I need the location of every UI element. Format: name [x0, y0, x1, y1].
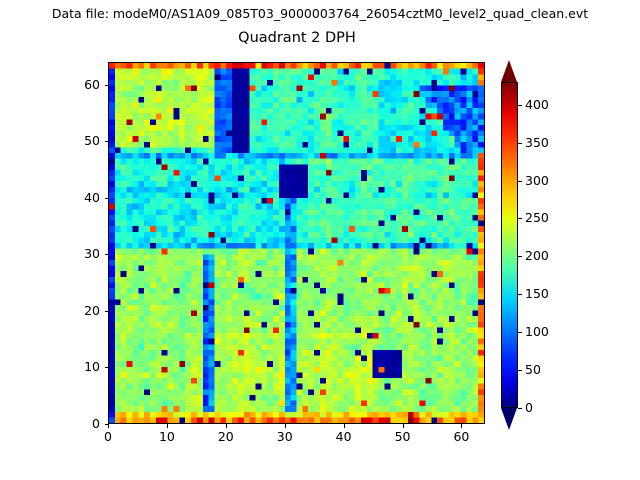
colorbar-tick-mark: [518, 294, 522, 295]
colorbar-tick-mark: [518, 408, 522, 409]
x-tick-mark: [403, 424, 404, 428]
y-tick-mark: [105, 311, 109, 312]
colorbar-tick-label: 100: [525, 324, 549, 339]
colorbar-tick-mark: [518, 105, 522, 106]
data-file-label: Data file: modeM0/AS1A09_085T03_90000037…: [0, 6, 640, 21]
y-tick-label: 20: [66, 303, 100, 318]
x-tick-label: 10: [147, 429, 187, 444]
colorbar-tick-label: 200: [525, 248, 549, 263]
y-tick-label: 50: [66, 133, 100, 148]
y-tick-label: 60: [66, 77, 100, 92]
y-tick-mark: [105, 367, 109, 368]
colorbar-tick-mark: [518, 332, 522, 333]
colorbar-over-arrow: [501, 60, 517, 82]
colorbar-tick-mark: [518, 218, 522, 219]
heatmap-axes[interactable]: [108, 62, 485, 424]
colorbar-tick-mark: [518, 370, 522, 371]
x-tick-mark: [167, 424, 168, 428]
x-tick-label: 50: [383, 429, 423, 444]
x-tick-mark: [226, 424, 227, 428]
y-tick-label: 0: [66, 416, 100, 431]
colorbar-tick-label: 50: [525, 362, 541, 377]
colorbar-under-arrow: [501, 408, 517, 430]
colorbar-tick-label: 400: [525, 97, 549, 112]
colorbar-tick-label: 350: [525, 135, 549, 150]
x-tick-mark: [108, 424, 109, 428]
x-tick-label: 30: [265, 429, 305, 444]
x-tick-mark: [461, 424, 462, 428]
colorbar[interactable]: [501, 60, 518, 430]
colorbar-tick-mark: [518, 256, 522, 257]
x-tick-label: 0: [88, 429, 128, 444]
y-tick-label: 30: [66, 246, 100, 261]
x-tick-label: 20: [206, 429, 246, 444]
y-tick-mark: [105, 424, 109, 425]
plot-title: Quadrant 2 DPH: [0, 30, 594, 46]
x-tick-mark: [285, 424, 286, 428]
y-tick-label: 40: [66, 190, 100, 205]
colorbar-tick-label: 150: [525, 286, 549, 301]
x-tick-mark: [344, 424, 345, 428]
y-tick-mark: [105, 141, 109, 142]
x-tick-label: 60: [441, 429, 481, 444]
colorbar-gradient: [501, 82, 518, 408]
y-tick-label: 10: [66, 359, 100, 374]
colorbar-tick-mark: [518, 143, 522, 144]
y-tick-mark: [105, 85, 109, 86]
y-tick-mark: [105, 254, 109, 255]
colorbar-tick-label: 300: [525, 173, 549, 188]
colorbar-tick-label: 0: [525, 400, 533, 415]
dph-heatmap-image[interactable]: [109, 63, 484, 423]
y-tick-mark: [105, 198, 109, 199]
colorbar-tick-mark: [518, 181, 522, 182]
x-tick-label: 40: [324, 429, 364, 444]
figure-canvas: Data file: modeM0/AS1A09_085T03_90000037…: [0, 0, 640, 480]
colorbar-tick-label: 250: [525, 210, 549, 225]
